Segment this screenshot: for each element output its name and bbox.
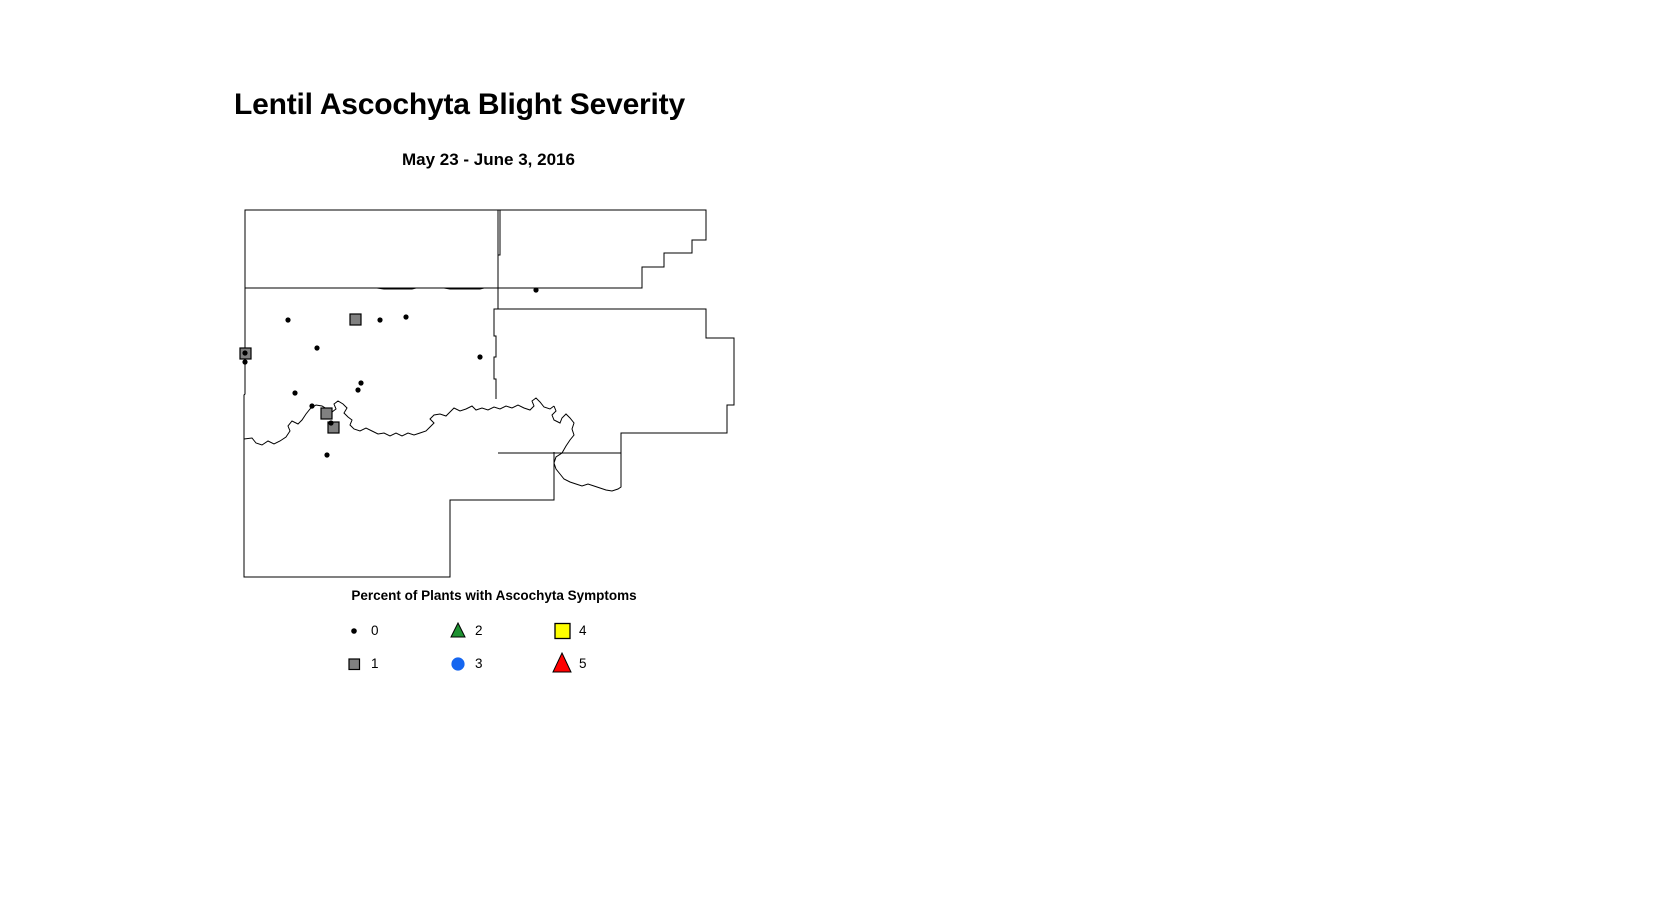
marker-severity-0[interactable]	[377, 317, 382, 322]
marker-severity-0[interactable]	[477, 354, 482, 359]
boundary-north-central	[498, 210, 706, 288]
marker-severity-0[interactable]	[285, 317, 290, 322]
legend-label: 0	[369, 624, 379, 638]
boundary-river-east	[552, 406, 621, 491]
boundary-south-block	[244, 439, 554, 577]
boundary-mid-vertical-lower	[494, 288, 498, 399]
boundary-east-upper	[498, 240, 706, 288]
green-triangle-icon	[443, 618, 473, 644]
legend-label: 4	[577, 624, 587, 638]
marker-severity-0[interactable]	[242, 350, 247, 355]
legend-entry-3[interactable]: 3	[443, 651, 547, 677]
boundary-east-main	[498, 309, 734, 453]
legend-label: 5	[577, 657, 587, 671]
blue-circle-icon	[443, 651, 473, 677]
map-figure: Lentil Ascochyta Blight Severity May 23 …	[0, 0, 1673, 900]
marker-severity-0[interactable]	[309, 403, 314, 408]
legend-row: 0 2 4	[339, 614, 669, 647]
legend-entry-4[interactable]: 4	[547, 618, 651, 644]
boundary-northwest-block	[245, 210, 498, 288]
legend-row: 1 3 5	[339, 647, 669, 680]
legend-entry-5[interactable]: 5	[547, 651, 651, 677]
legend-grid: 0 2 4	[339, 614, 669, 680]
map-canvas[interactable]	[244, 205, 744, 595]
marker-severity-1[interactable]	[350, 314, 361, 325]
county-boundaries	[244, 210, 734, 577]
marker-severity-1[interactable]	[321, 408, 332, 419]
marker-severity-0[interactable]	[292, 390, 297, 395]
marker-severity-0[interactable]	[533, 287, 538, 292]
red-triangle-icon	[547, 651, 577, 677]
yellow-square-icon	[547, 618, 577, 644]
map-legend: Percent of Plants with Ascochyta Symptom…	[244, 588, 744, 688]
marker-severity-0[interactable]	[242, 359, 247, 364]
date-range-subtitle: May 23 - June 3, 2016	[402, 150, 575, 170]
legend-entry-1[interactable]: 1	[339, 651, 443, 677]
marker-severity-0[interactable]	[403, 314, 408, 319]
legend-label: 1	[369, 657, 379, 671]
legend-caption: Percent of Plants with Ascochyta Symptom…	[244, 588, 744, 603]
marker-severity-0[interactable]	[324, 452, 329, 457]
legend-label: 2	[473, 624, 483, 638]
legend-entry-0[interactable]: 0	[339, 618, 443, 644]
marker-severity-0[interactable]	[328, 420, 333, 425]
boundary-northeast-steps	[642, 210, 706, 267]
legend-label: 3	[473, 657, 483, 671]
boundary-river-west	[244, 398, 554, 445]
legend-entry-2[interactable]: 2	[443, 618, 547, 644]
marker-severity-0[interactable]	[358, 380, 363, 385]
small-black-dot-icon	[339, 618, 369, 644]
marker-severity-0[interactable]	[355, 387, 360, 392]
page-title: Lentil Ascochyta Blight Severity	[234, 88, 685, 122]
gray-square-icon	[339, 651, 369, 677]
marker-severity-0[interactable]	[314, 345, 319, 350]
